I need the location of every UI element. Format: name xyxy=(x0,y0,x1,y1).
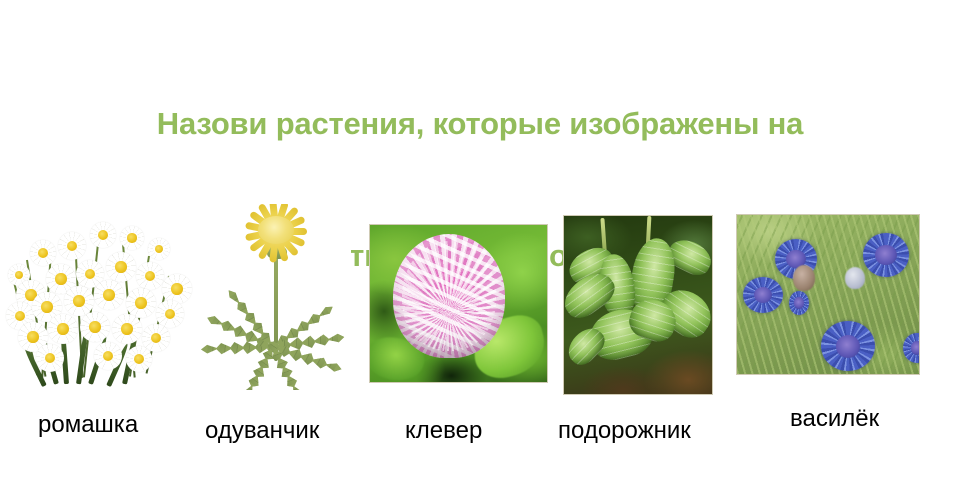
chamomile-flower xyxy=(36,344,64,372)
plant-card-dandelion[interactable] xyxy=(199,204,351,390)
chamomile-flower xyxy=(94,280,124,310)
caption-cornflower: василёк xyxy=(790,406,879,432)
cornflower-photo xyxy=(736,214,920,375)
caption-dandelion: одуванчик xyxy=(205,418,319,444)
chamomile-flower xyxy=(112,314,142,344)
cornflower-flower xyxy=(743,277,783,313)
chamomile-flower xyxy=(126,346,152,372)
chamomile-flower xyxy=(106,252,136,282)
caption-plantain: подорожник xyxy=(558,418,691,444)
chamomile-flower xyxy=(90,222,116,248)
caption-chamomile: ромашка xyxy=(38,412,138,438)
plant-card-plantain[interactable] xyxy=(563,215,713,395)
chamomile-flower xyxy=(48,314,78,344)
clover-blossom xyxy=(393,234,505,358)
cornflower-flower xyxy=(903,333,920,363)
plant-card-chamomile[interactable] xyxy=(2,216,198,388)
plant-picture-strip: ромашка xyxy=(0,0,960,504)
cornflower-flower xyxy=(863,233,909,277)
clover-photo xyxy=(369,224,548,383)
dandelion-flower xyxy=(244,208,310,252)
dandelion-photo xyxy=(199,204,351,390)
plant-card-cornflower[interactable] xyxy=(736,214,920,375)
chamomile-flower xyxy=(136,262,164,290)
plantain-photo xyxy=(563,215,713,395)
cornflower-bud-flower xyxy=(789,291,809,315)
cornflower-bud xyxy=(845,267,865,289)
caption-clover: клевер xyxy=(405,418,482,444)
chamomile-flower xyxy=(80,312,110,342)
chamomile-flower xyxy=(64,286,94,316)
cornflower-flower xyxy=(821,321,875,371)
plant-card-clover[interactable] xyxy=(369,224,548,383)
chamomile-flower xyxy=(94,342,122,370)
chamomile-flower xyxy=(58,232,86,260)
cornflower-bud xyxy=(793,265,815,291)
chamomile-photo xyxy=(2,216,198,388)
chamomile-flower xyxy=(148,238,170,260)
chamomile-flower xyxy=(30,240,56,266)
chamomile-flower xyxy=(120,226,144,250)
